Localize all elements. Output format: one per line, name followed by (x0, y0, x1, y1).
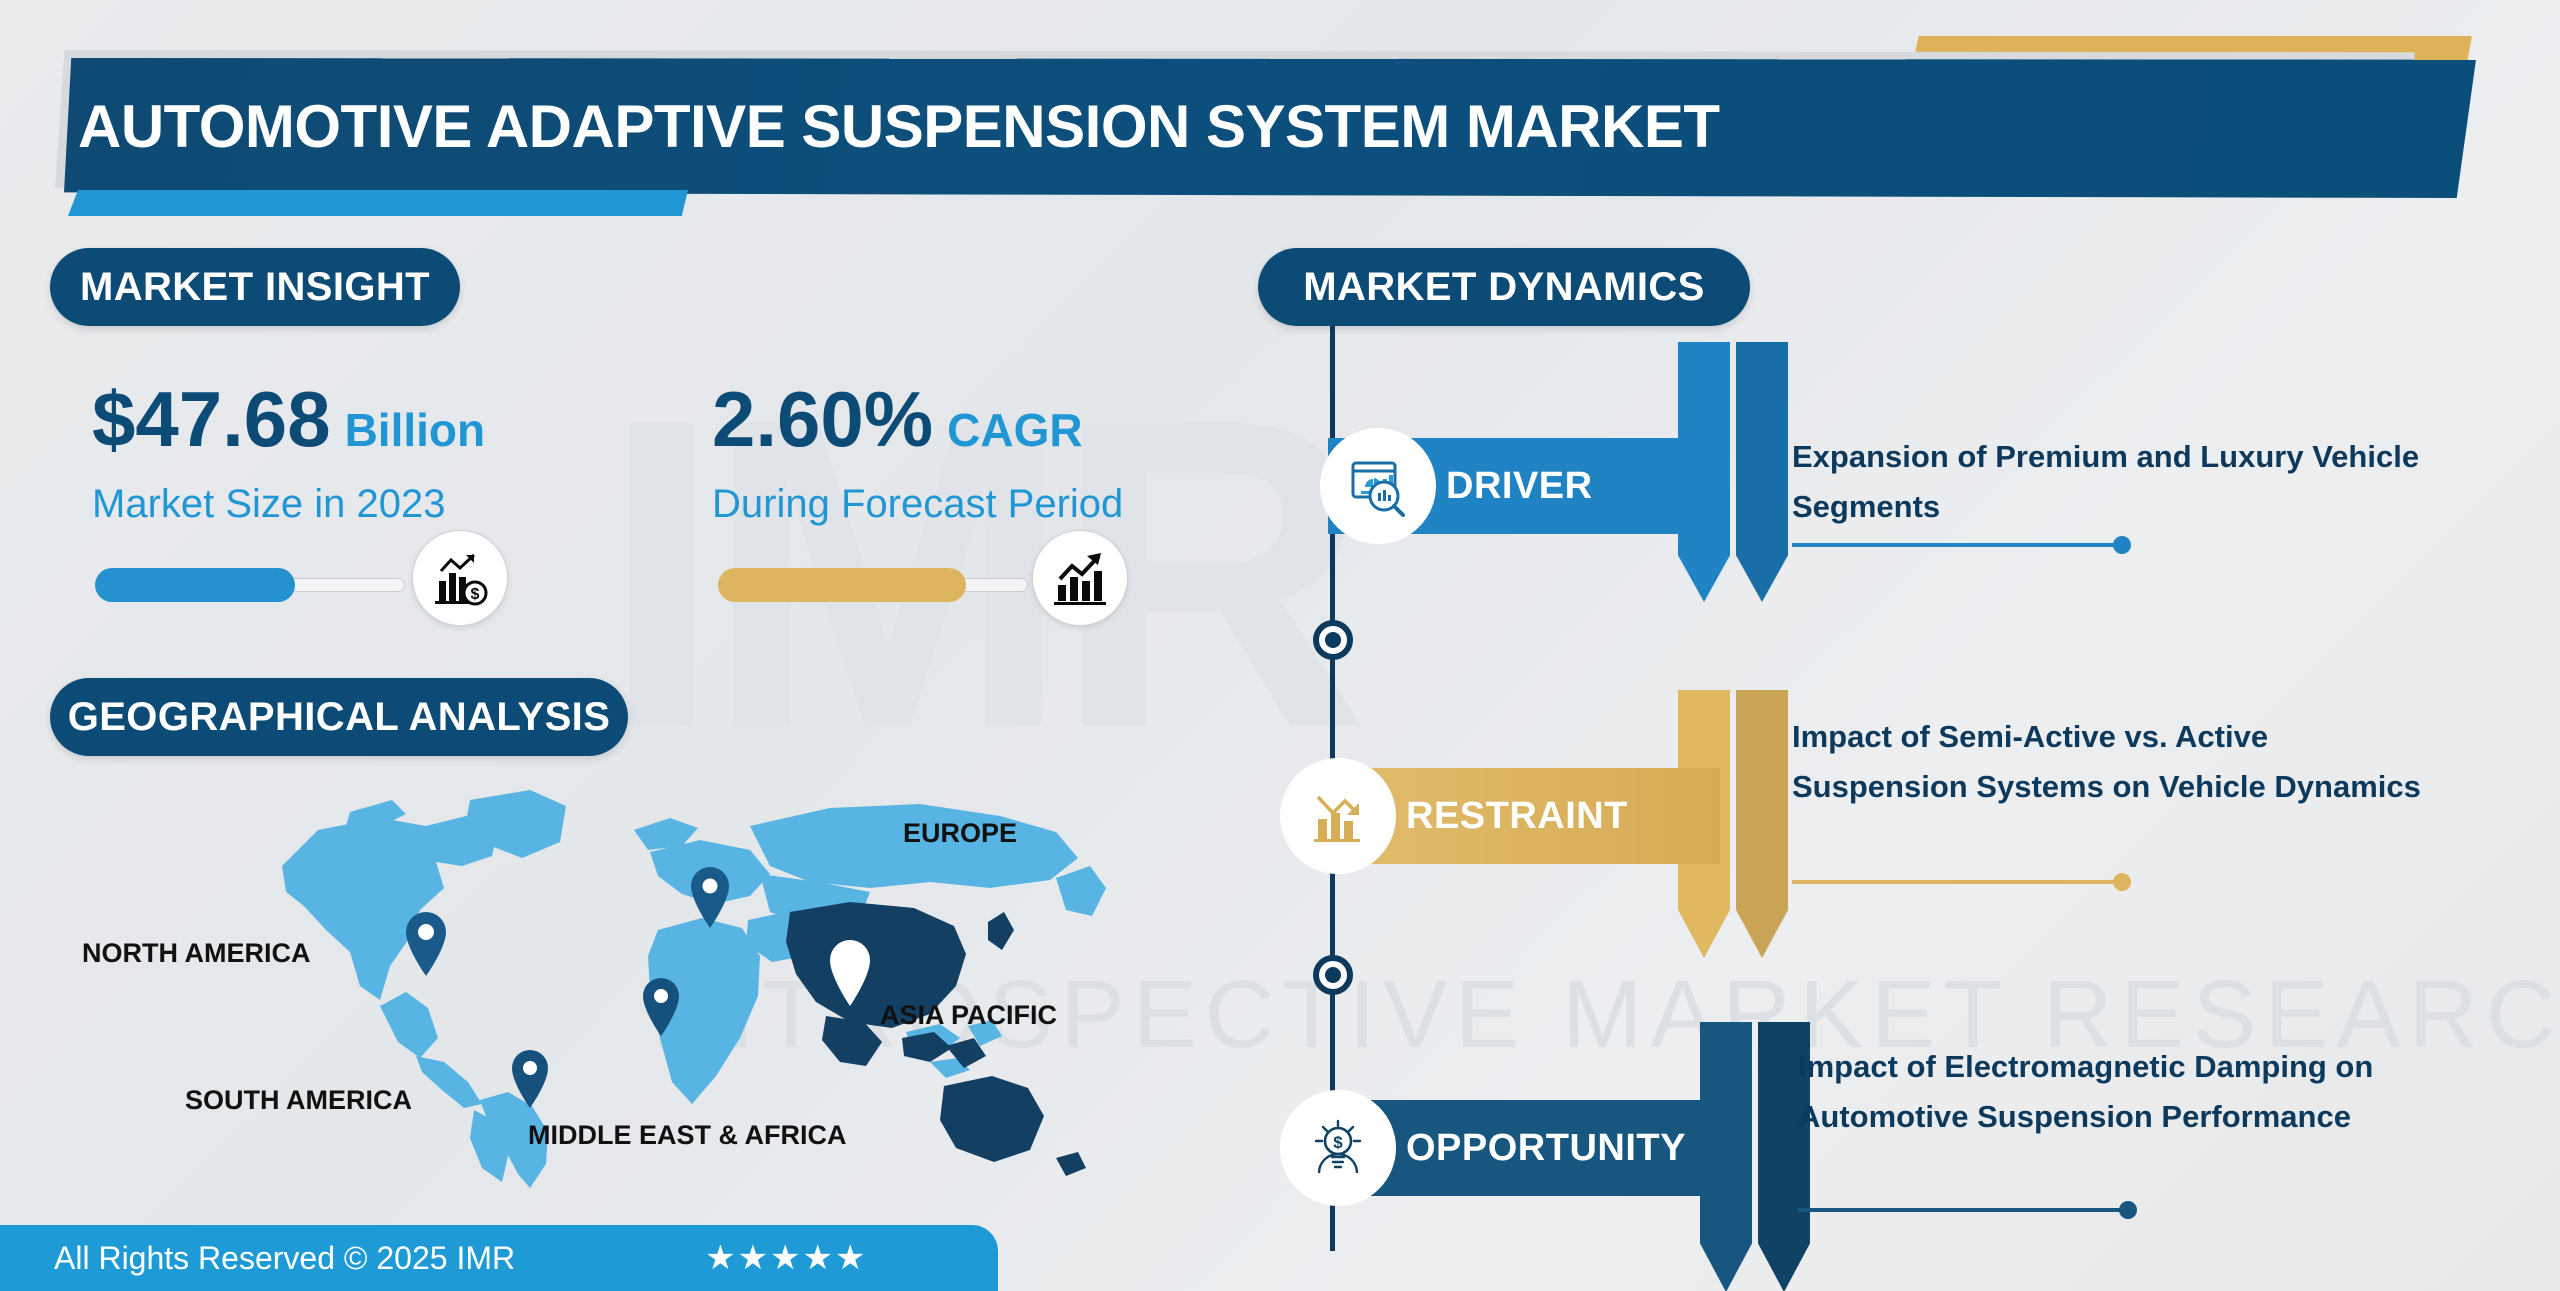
timeline-node (1313, 620, 1353, 660)
stat-unit: CAGR (947, 403, 1082, 457)
restraint-label: RESTRAINT (1406, 795, 1628, 838)
svg-text:$: $ (471, 586, 480, 603)
map-label-europe: EUROPE (903, 818, 1017, 849)
opportunity-label: OPPORTUNITY (1406, 1127, 1686, 1170)
driver-label: DRIVER (1446, 465, 1593, 508)
opportunity-bar[interactable]: $ OPPORTUNITY (1288, 1100, 1748, 1196)
lightbulb-dollar-icon: $ (1280, 1090, 1396, 1206)
rating-stars: ★★★★★ (705, 1238, 867, 1278)
stat-value: 2.60% (712, 380, 933, 458)
stat-market-size: $47.68Billion Market Size in 2023 (92, 380, 485, 527)
copyright-text: All Rights Reserved © 2025 IMR (54, 1240, 515, 1277)
driver-leader-line (1792, 543, 2122, 547)
restraint-leader-line (1792, 880, 2122, 884)
stat-caption: During Forecast Period (712, 482, 1123, 527)
page-title: AUTOMOTIVE ADAPTIVE SUSPENSION SYSTEM MA… (78, 92, 1720, 161)
driver-text: Expansion of Premium and Luxury Vehicle … (1792, 432, 2432, 531)
stat-value: $47.68 (92, 380, 331, 458)
growth-chart-arrow-icon (1032, 530, 1128, 626)
infographic-canvas: IMR INTROSPECTIVE MARKET RESEARCH AUTOMO… (0, 0, 2560, 1291)
restraint-text: Impact of Semi-Active vs. Active Suspens… (1792, 712, 2432, 811)
driver-bar[interactable]: DRIVER (1328, 438, 1718, 534)
market-insight-badge: MARKET INSIGHT (50, 248, 460, 326)
map-label-south-america: SOUTH AMERICA (185, 1085, 412, 1116)
opportunity-leader-line (1798, 1208, 2128, 1212)
bar-chart-dollar-icon: $ (412, 530, 508, 626)
map-label-middle-east-africa: MIDDLE EAST & AFRICA (528, 1120, 847, 1151)
geographical-analysis-badge: GEOGRAPHICAL ANALYSIS (50, 678, 628, 756)
market-dynamics-badge: MARKET DYNAMICS (1258, 248, 1750, 326)
stat-cagr: 2.60%CAGR During Forecast Period (712, 380, 1123, 527)
map-label-north-america: NORTH AMERICA (82, 938, 311, 969)
stat-unit: Billion (345, 403, 486, 457)
map-label-asia-pacific: ASIA PACIFIC (880, 1000, 1057, 1031)
timeline-node (1313, 955, 1353, 995)
opportunity-text: Impact of Electromagnetic Damping on Aut… (1798, 1042, 2438, 1141)
svg-text:$: $ (1333, 1133, 1343, 1152)
stat-caption: Market Size in 2023 (92, 482, 485, 527)
header-underline (68, 190, 688, 216)
declining-bar-chart-icon (1280, 758, 1396, 874)
report-magnifier-icon (1320, 428, 1436, 544)
market-size-progress-fill (95, 568, 295, 602)
cagr-progress-fill (718, 568, 966, 602)
restraint-bar[interactable]: RESTRAINT (1288, 768, 1720, 864)
footer-bar: All Rights Reserved © 2025 IMR ★★★★★ (0, 1225, 998, 1291)
